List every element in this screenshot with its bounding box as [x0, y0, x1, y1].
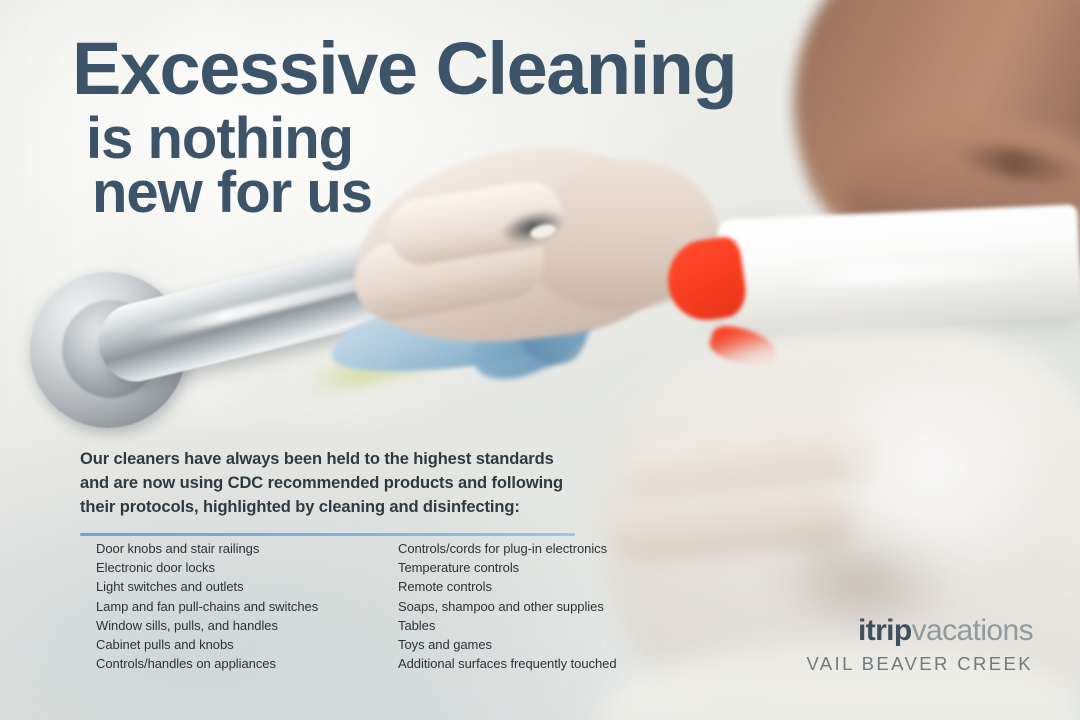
brand-location: VAIL BEAVER CREEK [806, 655, 1033, 674]
list-item: Additional surfaces frequently touched [398, 654, 658, 673]
body-paragraph: Our cleaners have always been held to th… [80, 448, 580, 520]
list-item: Cabinet pulls and knobs [96, 635, 346, 654]
headline-block: Excessive Cleaning is nothing new for us [72, 34, 736, 222]
poster-content: Excessive Cleaning is nothing new for us… [0, 0, 1080, 720]
checklist-right-column: Controls/cords for plug-in electronics T… [398, 539, 658, 673]
list-item: Door knobs and stair railings [96, 539, 346, 558]
list-item: Soaps, shampoo and other supplies [398, 597, 658, 616]
headline-primary: Excessive Cleaning [72, 34, 736, 104]
brand-name-light: vacations [912, 614, 1033, 647]
list-item: Tables [398, 616, 658, 635]
list-item: Electronic door locks [96, 558, 346, 577]
brand-wordmark: itripvacations [806, 616, 1033, 646]
list-item: Toys and games [398, 635, 658, 654]
list-item: Remote controls [398, 577, 658, 596]
brand-name-bold: itrip [858, 614, 912, 647]
body-block: Our cleaners have always been held to th… [80, 448, 580, 536]
list-item: Temperature controls [398, 558, 658, 577]
checklist-columns: Door knobs and stair railings Electronic… [96, 539, 658, 673]
poster-canvas: Excessive Cleaning is nothing new for us… [0, 0, 1080, 720]
section-divider [80, 533, 575, 536]
list-item: Window sills, pulls, and handles [96, 616, 346, 635]
list-item: Controls/cords for plug-in electronics [398, 539, 658, 558]
list-item: Lamp and fan pull-chains and switches [96, 597, 346, 616]
list-item: Controls/handles on appliances [96, 654, 346, 673]
brand-logo: itripvacations VAIL BEAVER CREEK [806, 616, 1033, 674]
headline-secondary-line2: new for us [92, 164, 736, 222]
checklist-left-column: Door knobs and stair railings Electronic… [96, 539, 346, 673]
list-item: Light switches and outlets [96, 577, 346, 596]
